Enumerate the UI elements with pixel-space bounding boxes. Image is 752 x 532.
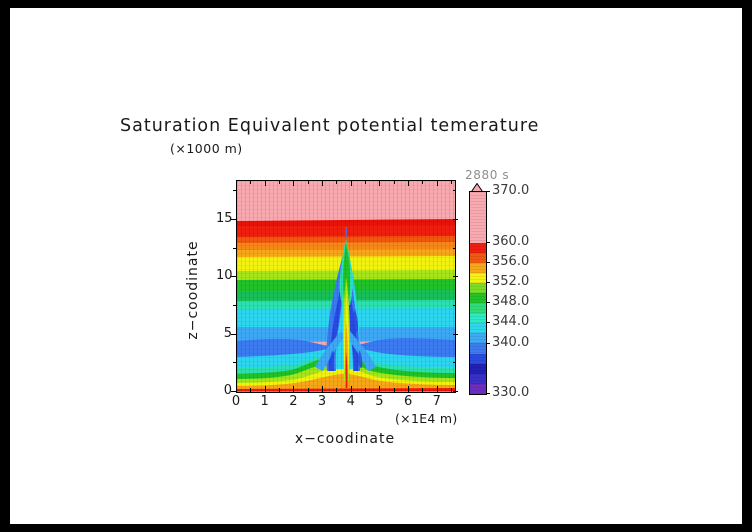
colorbar-band bbox=[470, 192, 486, 243]
colorbar-tick-label: 370.0 bbox=[492, 183, 529, 198]
colorbar-tick bbox=[486, 343, 490, 344]
x-major-tick-top bbox=[293, 181, 294, 186]
x-major-tick-top bbox=[265, 181, 266, 186]
colorbar-band bbox=[470, 374, 486, 384]
x-major-tick bbox=[265, 386, 266, 392]
x-major-tick bbox=[293, 386, 294, 392]
x-minor-tick bbox=[336, 388, 337, 392]
colorbar-tick bbox=[486, 302, 490, 303]
x-major-tick-top bbox=[322, 181, 323, 186]
x-tick-label: 4 bbox=[341, 394, 361, 409]
colorbar-band bbox=[470, 293, 486, 303]
x-major-tick bbox=[408, 386, 409, 392]
x-minor-tick-top bbox=[279, 181, 280, 184]
colorbar-tick bbox=[486, 322, 490, 323]
x-tick-label: 1 bbox=[255, 394, 275, 409]
x-minor-tick-top bbox=[336, 181, 337, 184]
y-minor-tick bbox=[233, 190, 237, 191]
colorbar-band bbox=[470, 384, 486, 394]
y-major-tick-right bbox=[453, 219, 458, 220]
colorbar-band bbox=[470, 253, 486, 263]
y-tick-label: 15 bbox=[216, 211, 232, 226]
colorbar-tick bbox=[486, 262, 490, 263]
page-title: Saturation Equivalent potential temeratu… bbox=[120, 116, 640, 136]
colorbar-tick bbox=[486, 242, 490, 243]
x-major-tick-top bbox=[437, 181, 438, 186]
x-major-tick bbox=[437, 386, 438, 392]
x-major-tick-top bbox=[236, 181, 237, 186]
contour-plot-area bbox=[236, 180, 456, 393]
x-minor-tick bbox=[308, 388, 309, 392]
x-tick-label: 6 bbox=[398, 394, 418, 409]
x-minor-tick-top bbox=[365, 181, 366, 184]
x-minor-tick bbox=[279, 388, 280, 392]
colorbar-band bbox=[470, 303, 486, 313]
figure-window: Saturation Equivalent potential temeratu… bbox=[0, 0, 752, 532]
x-major-tick-top bbox=[408, 181, 409, 186]
y-major-tick-right bbox=[453, 334, 458, 335]
x-tick-label: 3 bbox=[312, 394, 332, 409]
x-axis-title: x−coodinate bbox=[235, 431, 455, 447]
colorbar-tick bbox=[486, 393, 490, 394]
colorbar-band bbox=[470, 313, 486, 323]
y-minor-tick bbox=[233, 248, 237, 249]
colorbar-band bbox=[470, 323, 486, 333]
colorbar-tick-label: 360.0 bbox=[492, 234, 529, 249]
y-minor-tick-right bbox=[453, 248, 456, 249]
x-major-tick-top bbox=[351, 181, 352, 186]
contour-field-svg bbox=[237, 181, 455, 392]
colorbar-band bbox=[470, 283, 486, 293]
x-major-tick-top bbox=[379, 181, 380, 186]
figure-canvas: Saturation Equivalent potential temeratu… bbox=[10, 8, 742, 524]
colorbar-tick-label: 340.0 bbox=[492, 335, 529, 350]
y-axis-title: z−coodinate bbox=[185, 230, 201, 350]
colorbar-band bbox=[470, 364, 486, 374]
x-minor-tick bbox=[394, 388, 395, 392]
y-minor-tick bbox=[233, 362, 237, 363]
x-tick-label: 2 bbox=[283, 394, 303, 409]
y-minor-tick-right bbox=[453, 305, 456, 306]
title-unit-label: (×1000 m) bbox=[170, 141, 243, 156]
x-tick-label: 5 bbox=[369, 394, 389, 409]
x-minor-tick-top bbox=[250, 181, 251, 184]
colorbar-tick-label: 330.0 bbox=[492, 385, 529, 400]
x-minor-tick bbox=[451, 388, 452, 392]
y-tick-label: 10 bbox=[216, 268, 232, 283]
colorbar-band bbox=[470, 333, 486, 343]
y-minor-tick-right bbox=[453, 362, 456, 363]
colorbar-tick-label: 344.0 bbox=[492, 314, 529, 329]
colorbar-bands bbox=[469, 191, 487, 395]
colorbar-band bbox=[470, 243, 486, 253]
colorbar-tick bbox=[486, 191, 490, 192]
contour-field bbox=[237, 181, 455, 392]
y-major-tick-right bbox=[453, 391, 458, 392]
x-minor-tick-top bbox=[308, 181, 309, 184]
colorbar-tick bbox=[486, 282, 490, 283]
x-major-tick bbox=[322, 386, 323, 392]
x-minor-tick-top bbox=[394, 181, 395, 184]
colorbar-band bbox=[470, 343, 486, 353]
colorbar-band bbox=[470, 273, 486, 283]
x-minor-tick-top bbox=[422, 181, 423, 184]
x-minor-tick bbox=[365, 388, 366, 392]
x-axis-unit-label: (×1E4 m) bbox=[395, 411, 458, 426]
colorbar-tick-label: 348.0 bbox=[492, 294, 529, 309]
colorbar-tick-label: 356.0 bbox=[492, 254, 529, 269]
y-minor-tick-right bbox=[453, 190, 456, 191]
x-tick-label: 7 bbox=[427, 394, 447, 409]
x-minor-tick-top bbox=[451, 181, 452, 184]
x-major-tick bbox=[379, 386, 380, 392]
colorbar-band bbox=[470, 263, 486, 273]
y-tick-label: 5 bbox=[216, 326, 232, 341]
y-tick-label: 0 bbox=[216, 383, 232, 398]
colorbar-band bbox=[470, 354, 486, 364]
x-major-tick bbox=[351, 386, 352, 392]
y-minor-tick bbox=[233, 305, 237, 306]
x-minor-tick bbox=[422, 388, 423, 392]
y-major-tick-right bbox=[453, 276, 458, 277]
colorbar-tick-label: 352.0 bbox=[492, 274, 529, 289]
x-minor-tick bbox=[250, 388, 251, 392]
